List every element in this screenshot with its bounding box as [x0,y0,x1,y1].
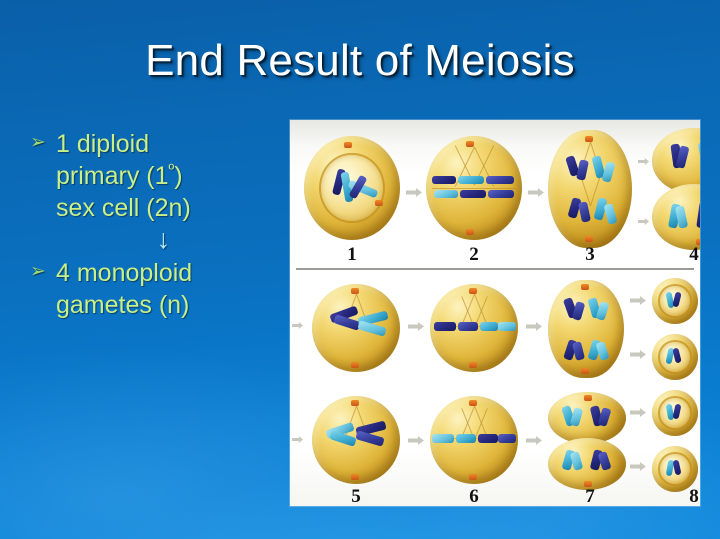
chromosome [595,341,609,361]
metaphase-plate [432,188,517,189]
diagram-gamete-group-8 [652,390,698,492]
chromosome [432,434,454,443]
stage-number: 8 [674,486,700,506]
centrosome [469,400,477,406]
chromosome [460,190,486,198]
daughter-cell-upper [548,392,626,444]
stage-number: 6 [454,486,494,506]
bullet-text-1: 1 diploid primary (1º) sex cell (2n) [56,128,280,224]
centrosome [469,362,477,368]
stage-number: 5 [336,486,376,506]
presentation-slide: End Result of Meiosis ➢ 1 diploid primar… [0,0,720,539]
centrosome [466,229,474,235]
cell-body [426,136,522,240]
chromosome [601,161,615,183]
cell-body [430,284,518,372]
flow-arrow-icon [526,322,542,331]
gamete-cell [652,334,698,380]
gamete-cell [652,278,698,324]
list-item: ➢ 4 monoploid gametes (n) [30,257,280,321]
flow-arrow-icon [528,188,544,197]
nucleus [660,286,689,315]
centrosome [581,368,589,374]
diagram-cell-1 [304,136,400,246]
diagram-cell-7 [548,392,626,490]
centrosome [344,142,352,148]
chromosome [572,341,585,361]
centrosome [584,395,592,401]
cell-body [312,284,400,372]
flow-arrow-icon [638,158,649,165]
flow-arrow-icon [630,350,646,359]
daughter-cell-lower [548,438,626,490]
centrosome [469,474,477,480]
centrosome [351,362,359,368]
diagram-row-meiosis-ii-upper [290,272,700,390]
cell-body [548,280,624,378]
chromosome [488,190,514,198]
flow-arrow-icon [630,408,646,417]
chromosome [498,322,516,331]
centrosome [581,284,589,290]
chromosome [498,434,516,443]
centrosome [585,236,593,242]
stage-number: 2 [454,244,494,266]
chromosome [673,292,682,308]
stage-number: 7 [570,486,610,506]
bullet-list: ➢ 1 diploid primary (1º) sex cell (2n) ↓… [30,128,280,321]
chromosome [486,176,514,184]
bullet-line: gametes (n) [56,291,189,319]
chromosome [480,322,498,331]
flow-arrow-icon [630,462,646,471]
centrosome [351,474,359,480]
meiosis-diagram-image: 1 2 [290,120,700,506]
cell-body [548,130,632,248]
gamete-cell [652,390,698,436]
chromosome [570,407,584,427]
chromosome [673,348,682,364]
chromosome [673,460,682,476]
chromosome [603,203,617,225]
chromosome [458,322,478,331]
chromosome [434,322,456,331]
chromosome [570,451,584,471]
nucleus [660,342,689,371]
flow-arrow-icon [526,436,542,445]
chromosome [597,451,611,471]
chromosome [456,434,476,443]
bullet-line: 1 diploid [56,130,149,158]
chromosome [458,176,484,184]
bullet-arrow-icon: ➢ [30,128,56,157]
centrosome [351,400,359,406]
stage-number: 1 [332,244,372,266]
stage-number: 4 [674,244,700,266]
cell-body [304,136,400,240]
nucleus [321,155,382,222]
stage-number: 3 [570,244,610,266]
diagram-cell-3 [548,130,632,250]
diagram-row-meiosis-i: 1 2 [290,122,700,270]
diagram-row-divider [296,268,694,270]
centrosome [351,288,359,294]
diagram-row-meiosis-ii-lower: 5 6 [290,388,700,506]
bullet-line: sex cell (2n) [56,194,191,222]
daughter-cell-lower [652,184,700,250]
flow-arrow-icon [408,436,424,445]
down-arrow-icon: ↓ [56,226,271,253]
diagram-cell-4 [652,128,700,252]
bullet-arrow-icon: ➢ [30,257,56,286]
diagram-cell-2 [426,136,522,246]
list-item: ➢ 1 diploid primary (1º) sex cell (2n) [30,128,280,224]
nucleus [660,454,689,483]
diagram-cell-ii-c [548,280,624,378]
bullet-line: primary (1º) [56,162,183,190]
diagram-cell-ii-a [312,284,400,372]
flow-arrow-icon [292,322,303,329]
cell-body [312,396,400,484]
chromosome [576,159,589,180]
flow-arrow-icon [630,296,646,305]
diagram-cell-ii-b [430,284,518,372]
flow-arrow-icon [292,436,303,443]
chromosome [478,434,498,443]
diagram-gamete-group-upper [652,278,698,380]
chromosome [434,190,458,198]
chromosome [698,141,700,168]
flow-arrow-icon [406,188,422,197]
flow-arrow-icon [638,218,649,225]
diagram-cell-5 [312,396,400,484]
page-title: End Result of Meiosis [0,38,720,84]
chromosome [696,202,700,229]
centrosome [469,288,477,294]
cell-body [430,396,518,484]
chromosome [432,176,456,184]
bullet-text-2: 4 monoploid gametes (n) [56,257,280,321]
centrosome [375,200,383,206]
diagram-cell-6 [430,396,518,484]
chromosome [673,404,682,420]
bullet-line: 4 monoploid [56,259,192,287]
nucleus [660,398,689,427]
flow-arrow-icon [408,322,424,331]
